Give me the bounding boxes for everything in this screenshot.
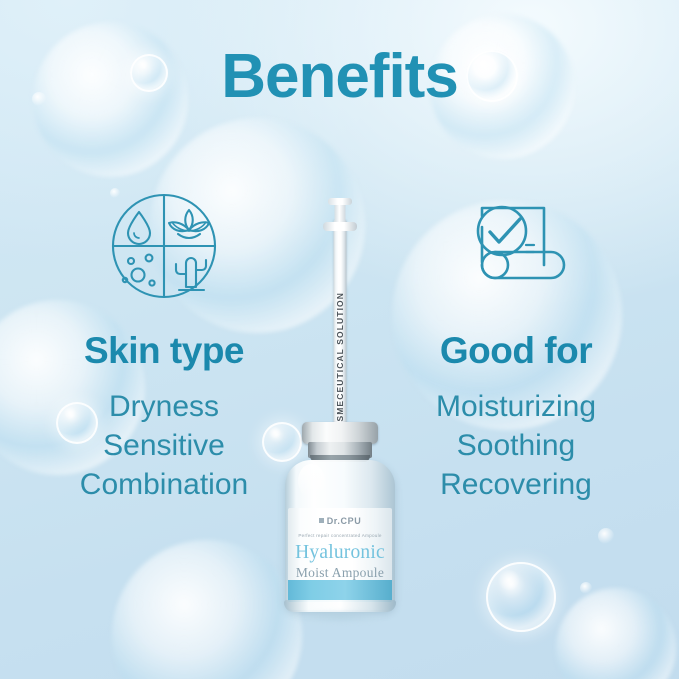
bottle-reflection — [292, 610, 388, 624]
benefit-column-good-for: Good for Moisturizing Soothing Recoverin… — [366, 186, 666, 504]
dropper-collar — [323, 222, 357, 231]
benefit-column-skin-type: Skin type Dryness Sensitive Combination — [14, 186, 314, 504]
list-item: Dryness — [14, 387, 314, 426]
product-subname: Moist Ampoule — [288, 566, 392, 580]
bottle-gloss — [298, 464, 324, 498]
product-name: Hyaluronic — [288, 543, 392, 563]
skin-type-heading: Skin type — [14, 332, 314, 371]
list-item: Moisturizing — [366, 387, 666, 426]
bottle-cap-top — [302, 422, 378, 444]
good-for-heading: Good for — [366, 332, 666, 371]
bubble-dot-d — [598, 528, 614, 544]
bubble-soft-bottom-right — [556, 588, 676, 679]
list-item: Recovering — [366, 465, 666, 504]
bubble-dot-c — [580, 582, 592, 594]
bottle-label: Dr.CPU Perfect repair concentrated Ampou… — [288, 508, 392, 602]
product-tagline: Perfect repair concentrated Ampoule — [288, 533, 392, 538]
list-item: Combination — [14, 465, 314, 504]
brand-name: Dr.CPU — [327, 516, 362, 526]
skin-type-list: Dryness Sensitive Combination — [14, 387, 314, 504]
dropper-plunger-top — [328, 198, 352, 205]
good-for-list: Moisturizing Soothing Recovering — [366, 387, 666, 504]
page-title: Benefits — [0, 46, 679, 108]
product-bottle: COSMECEUTICAL SOLUTION Dr.CPU Perfect re… — [279, 196, 401, 616]
bubble-soft-bottom-left — [112, 540, 302, 679]
list-item: Soothing — [366, 426, 666, 465]
brand-mark-icon — [319, 518, 324, 523]
bottle-glass-body: Dr.CPU Perfect repair concentrated Ampou… — [285, 460, 395, 610]
dropper-neck — [335, 204, 346, 222]
benefits-infographic: Benefits — [0, 0, 679, 679]
bubble-ring-bottom — [486, 562, 556, 632]
brand-logo: Dr.CPU — [288, 516, 392, 526]
list-item: Sensitive — [14, 426, 314, 465]
certificate-check-icon — [366, 186, 666, 306]
skin-type-quadrant-icon — [14, 186, 314, 306]
dropper-text: COSMECEUTICAL SOLUTION — [335, 292, 345, 436]
label-color-band — [288, 580, 392, 602]
